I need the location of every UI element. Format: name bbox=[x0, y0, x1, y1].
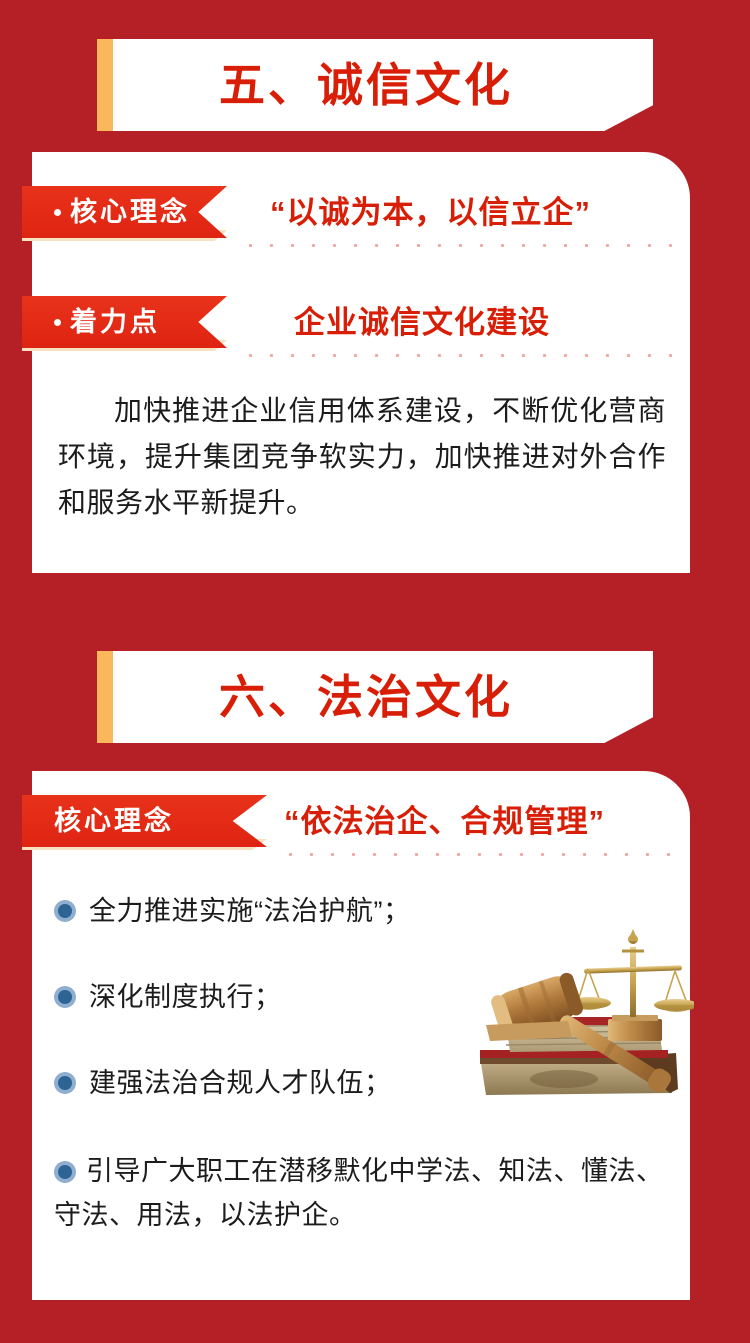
banner-plate: 五、诚信文化 bbox=[113, 39, 653, 131]
bullet-dot-icon bbox=[54, 319, 61, 326]
list-item-label: 深化制度执行； bbox=[89, 975, 484, 1019]
banner-plate: 六、法治文化 bbox=[113, 651, 653, 743]
list-item: 深化制度执行； bbox=[54, 975, 484, 1019]
list-item: 全力推进实施“法治护航”； bbox=[54, 889, 484, 933]
dotted-separator bbox=[280, 853, 672, 856]
list-item: 引导广大职工在潜移默化中学法、知法、懂法、守法、用法，以法护企。 bbox=[54, 1149, 670, 1237]
dotted-separator bbox=[240, 354, 672, 357]
ribbon-body: 核心理念 bbox=[22, 795, 267, 847]
paragraph-integrity-culture: 加快推进企业信用体系建设，不断优化营商环境，提升集团竞争软实力，加快推进对外合作… bbox=[58, 388, 666, 526]
value-focus-point-integrity: 企业诚信文化建设 bbox=[294, 307, 550, 338]
content-card-integrity-culture: 核心理念 “以诚为本，以信立企” 着力点 企业诚信文化建设 加快推进企业信用体系… bbox=[32, 152, 690, 573]
ribbon-label-core-concept-law: 核心理念 bbox=[54, 808, 174, 835]
section-banner-rule-of-law-culture: 六、法治文化 bbox=[97, 651, 653, 743]
content-card-rule-of-law-culture: 核心理念 “依法治企、合规管理” 全力推进实施“法治护航”； 深化制度执行； 建… bbox=[32, 771, 690, 1300]
info-row-core-concept-integrity: 核心理念 “以诚为本，以信立企” bbox=[32, 186, 690, 248]
ribbon-core-concept-law: 核心理念 bbox=[22, 795, 267, 847]
section-title-integrity-culture: 五、诚信文化 bbox=[219, 62, 547, 108]
list-item: 建强法治合规人才队伍； bbox=[54, 1061, 484, 1105]
ribbon-core-concept-integrity: 核心理念 bbox=[22, 186, 227, 238]
bullet-dot-icon bbox=[54, 209, 61, 216]
info-row-focus-point-integrity: 着力点 企业诚信文化建设 bbox=[32, 296, 690, 358]
ribbon-focus-point: 着力点 bbox=[22, 296, 227, 348]
ribbon-body: 着力点 bbox=[22, 296, 227, 348]
list-item-label: 建强法治合规人才队伍； bbox=[89, 1061, 484, 1105]
infographic-page: 五、诚信文化 核心理念 “以诚为本，以信立企” 着力点 bbox=[0, 0, 750, 1343]
list-item-label: 引导广大职工在潜移默化中学法、知法、懂法、守法、用法，以法护企。 bbox=[54, 1156, 664, 1230]
dotted-separator bbox=[240, 244, 672, 247]
gavel-scales-lawbooks-image bbox=[472, 917, 694, 1109]
ribbon-body: 核心理念 bbox=[22, 186, 227, 238]
banner-accent-bar bbox=[97, 651, 113, 743]
ribbon-label-focus-point: 着力点 bbox=[70, 309, 160, 336]
bullet-circle-icon bbox=[54, 900, 76, 922]
info-row-core-concept-law: 核心理念 “依法治企、合规管理” bbox=[32, 795, 690, 857]
value-core-concept-integrity: “以诚为本，以信立企” bbox=[270, 197, 591, 228]
section-banner-integrity-culture: 五、诚信文化 bbox=[97, 39, 653, 131]
list-item-label: 全力推进实施“法治护航”； bbox=[89, 889, 484, 933]
bullet-circle-icon bbox=[54, 1072, 76, 1094]
bullet-circle-icon bbox=[54, 986, 76, 1008]
section-title-rule-of-law-culture: 六、法治文化 bbox=[219, 674, 547, 720]
ribbon-label-core-concept: 核心理念 bbox=[70, 199, 190, 226]
bullet-circle-icon bbox=[54, 1161, 76, 1183]
banner-accent-bar bbox=[97, 39, 113, 131]
value-core-concept-law: “依法治企、合规管理” bbox=[284, 806, 605, 837]
